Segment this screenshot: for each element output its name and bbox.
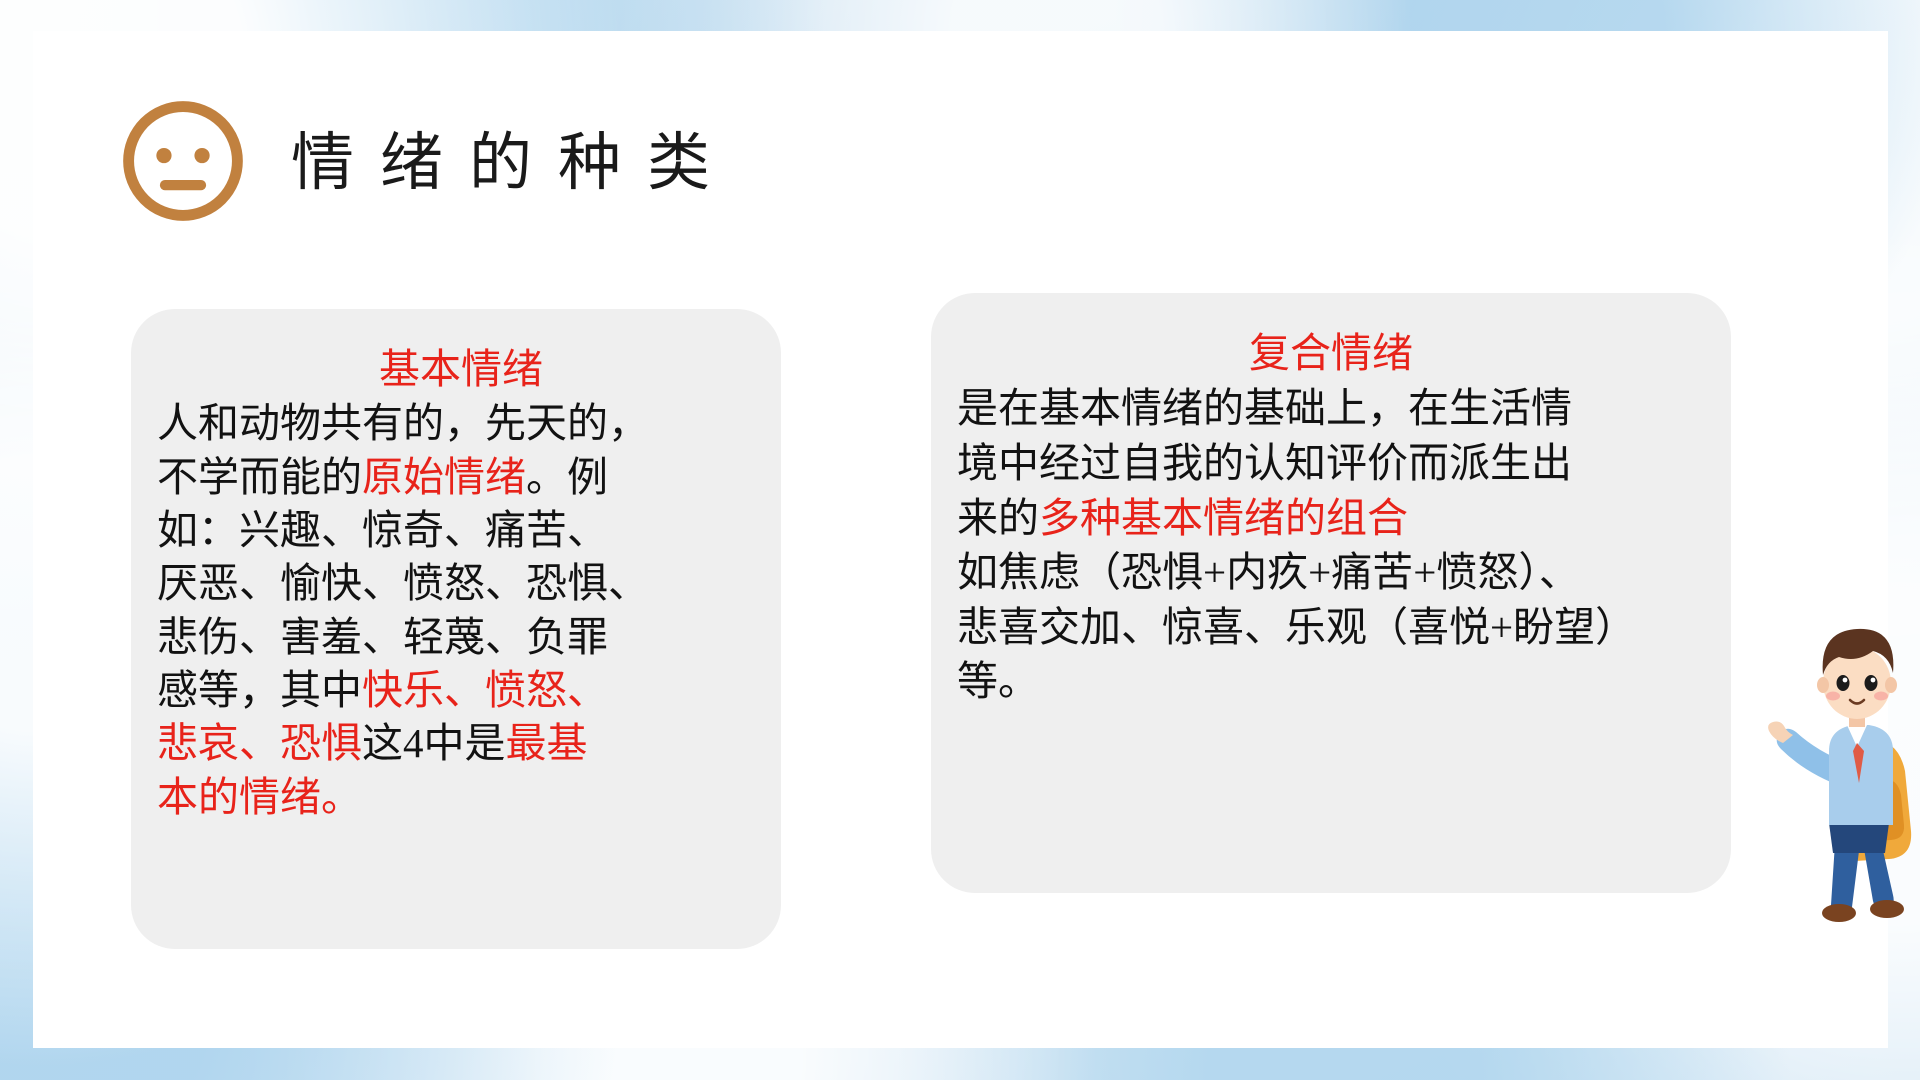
body-text: 厌恶、愉快、愤怒、恐惧、: [157, 560, 649, 606]
compound-emotion-card: 复合情绪 是在基本情绪的基础上，在生活情境中经过自我的认知评价而派生出来的多种基…: [931, 293, 1731, 893]
text-line: 本的情绪。: [157, 771, 755, 824]
body-text: 是在基本情绪的基础上，在生活情: [957, 385, 1572, 431]
text-line: 来的多种基本情绪的组合: [957, 491, 1705, 546]
highlighted-text: 多种基本情绪的组合: [1039, 495, 1408, 541]
text-line: 人和动物共有的，先天的，: [157, 397, 755, 450]
text-line: 是在基本情绪的基础上，在生活情: [957, 381, 1705, 436]
neutral-face-icon: [115, 93, 251, 229]
text-line: 如焦虑（恐惧+内疚+痛苦+愤怒）、: [957, 545, 1705, 600]
body-text: 这4中是: [362, 720, 506, 766]
basic-emotion-card: 基本情绪 人和动物共有的，先天的，不学而能的原始情绪。例如：兴趣、惊奇、痛苦、厌…: [131, 309, 781, 949]
compound-emotion-body: 是在基本情绪的基础上，在生活情境中经过自我的认知评价而派生出来的多种基本情绪的组…: [957, 381, 1705, 708]
body-text: 。例: [526, 454, 608, 500]
body-text: 境中经过自我的认知评价而派生出: [957, 440, 1572, 486]
text-line: 悲哀、恐惧这4中是最基: [157, 717, 755, 770]
text-line: 感等，其中快乐、愤怒、: [157, 664, 755, 717]
basic-emotion-body: 人和动物共有的，先天的，不学而能的原始情绪。例如：兴趣、惊奇、痛苦、厌恶、愉快、…: [157, 397, 755, 823]
highlighted-text: 快乐、愤怒、: [362, 667, 608, 713]
body-text: 等。: [957, 658, 1039, 704]
body-text: 不学而能的: [157, 454, 362, 500]
highlighted-text: 原始情绪: [362, 454, 526, 500]
highlighted-text: 本的情绪。: [157, 774, 362, 820]
text-line: 如：兴趣、惊奇、痛苦、: [157, 504, 755, 557]
slide-card: 情绪的种类 基本情绪 人和动物共有的，先天的，不学而能的原始情绪。例如：兴趣、惊…: [33, 31, 1888, 1048]
body-text: 悲喜交加、惊喜、乐观（喜悦+盼望）: [957, 604, 1636, 650]
slide-header: 情绪的种类: [115, 93, 736, 229]
text-line: 境中经过自我的认知评价而派生出: [957, 436, 1705, 491]
page-title: 情绪的种类: [291, 128, 736, 195]
schoolboy-illustration: [1751, 591, 1920, 941]
highlighted-text: 悲哀、恐惧: [157, 720, 362, 766]
text-line: 悲喜交加、惊喜、乐观（喜悦+盼望）: [957, 600, 1705, 655]
text-line: 厌恶、愉快、愤怒、恐惧、: [157, 557, 755, 610]
body-text: 感等，其中: [157, 667, 362, 713]
text-line: 等。: [957, 654, 1705, 709]
text-line: 悲伤、害羞、轻蔑、负罪: [157, 611, 755, 664]
text-line: 不学而能的原始情绪。例: [157, 451, 755, 504]
highlighted-text: 最基: [506, 720, 588, 766]
body-text: 人和动物共有的，先天的，: [157, 400, 649, 446]
body-text: 如焦虑（恐惧+内疚+痛苦+愤怒）、: [957, 549, 1580, 595]
body-text: 如：兴趣、惊奇、痛苦、: [157, 507, 608, 553]
compound-emotion-heading: 复合情绪: [957, 327, 1705, 379]
body-text: 来的: [957, 495, 1039, 541]
body-text: 悲伤、害羞、轻蔑、负罪: [157, 614, 608, 660]
basic-emotion-heading: 基本情绪: [157, 343, 755, 395]
